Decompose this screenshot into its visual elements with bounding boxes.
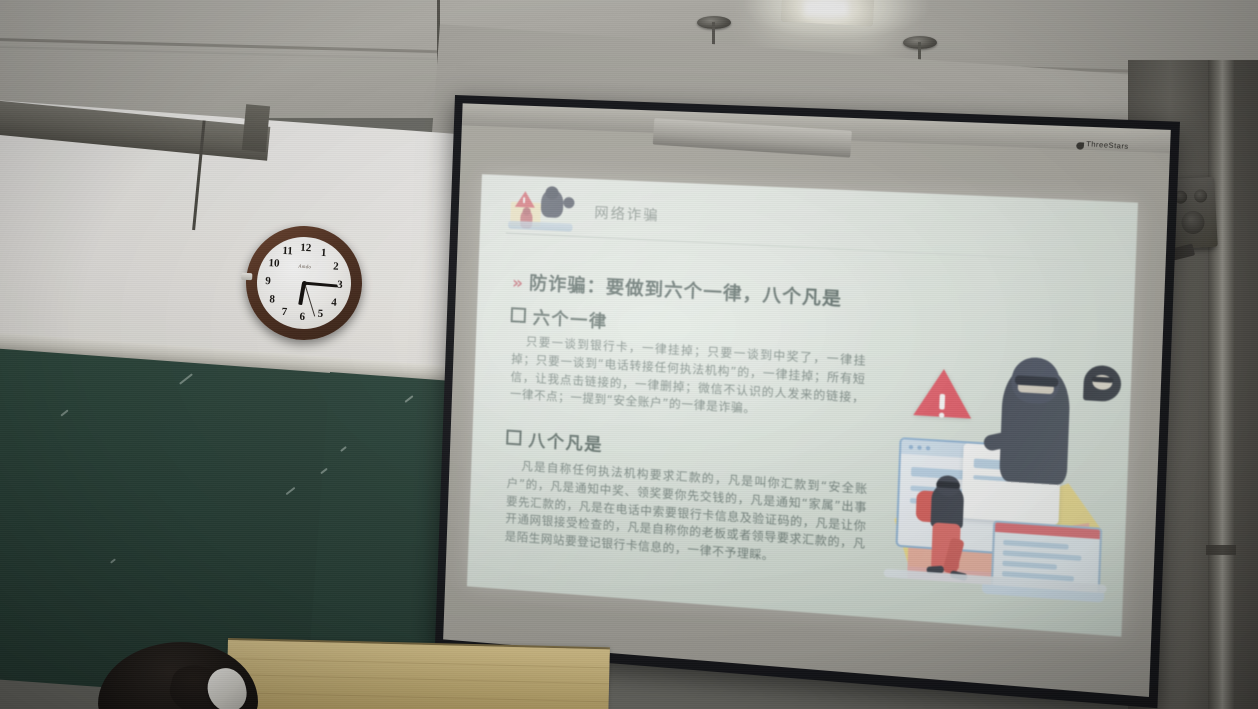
lectern-grain — [228, 658, 610, 668]
hacker-stealing-data-illustration — [883, 350, 1127, 624]
warning-exclamation-icon — [523, 197, 525, 203]
lectern — [226, 640, 610, 709]
clock-numeral-9: 9 — [261, 275, 276, 288]
section-heading-text: 六个一律 — [532, 303, 608, 332]
warning-exclamation-bar — [939, 394, 945, 410]
illu-bubble-icon — [563, 197, 575, 209]
clock-numeral-12: 12 — [299, 242, 314, 255]
square-bullet-icon — [511, 307, 527, 323]
clock-numeral-11: 11 — [280, 245, 295, 258]
phishing-scam-illustration-icon — [506, 187, 584, 233]
clock-brand-label: Amdo — [298, 264, 311, 270]
slide-header: 网络诈骗 — [506, 187, 660, 236]
lectern-grain — [227, 674, 609, 684]
clock-numeral-7: 7 — [277, 306, 292, 319]
wall-clock: Amdo 12 1 2 3 4 5 6 7 8 9 10 11 — [243, 223, 365, 343]
browser-dot — [909, 445, 913, 449]
slide-header-title: 网络诈骗 — [594, 202, 660, 225]
clock-numeral-2: 2 — [329, 260, 344, 273]
slide-header-divider — [506, 233, 1106, 263]
browser-dot — [926, 446, 930, 450]
browser-dot — [917, 445, 921, 449]
clock-numeral-10: 10 — [267, 257, 282, 270]
hanging-light-bar-end — [242, 104, 270, 152]
clock-numeral-5: 5 — [313, 308, 328, 321]
section-body-ba-ge-fan-shi: 凡是自称任何执法机构要求汇款的，凡是叫你汇款到“安全账户”的，凡是通知中奖、领奖… — [504, 457, 868, 573]
section-body-liu-ge-yi-lv: 只要一谈到银行卡，一律挂掉；只要一谈到中奖了，一律挂掉；只要一谈到“电话转接任何… — [510, 332, 867, 425]
wall-pipe — [1208, 60, 1234, 709]
clock-numeral-6: 6 — [295, 311, 310, 324]
section-heading-ba-ge-fan-shi: 八个凡是 — [506, 425, 604, 456]
chevron-double-right-icon: » — [512, 273, 521, 293]
square-bullet-icon — [506, 430, 522, 446]
projection-screen[interactable]: ThreeStars 网络诈骗 — [435, 95, 1180, 708]
projected-slide: 网络诈骗 » 防诈骗：要做到六个一律，八个凡是 六个一律 只要一谈到银行卡，一律… — [467, 174, 1138, 636]
speaker-woofer — [1181, 210, 1205, 234]
clock-numeral-1: 1 — [316, 247, 331, 260]
pipe-band — [1206, 545, 1236, 555]
speaker-cone-right — [1194, 189, 1208, 203]
laptop-content-line — [1003, 550, 1082, 561]
clock-numeral-4: 4 — [327, 296, 342, 309]
classroom-scene: Amdo 12 1 2 3 4 5 6 7 8 9 10 11 ThreeSta… — [0, 0, 1258, 709]
section-heading-text: 八个凡是 — [528, 426, 604, 456]
ceiling-light-core — [804, 0, 848, 16]
laptop-content-line — [1002, 561, 1057, 570]
laptop-content-line — [1003, 540, 1069, 550]
clock-numeral-8: 8 — [265, 293, 280, 306]
clock-peg — [241, 273, 252, 281]
illu-water-band — [508, 221, 573, 232]
lectern-grain — [227, 692, 609, 702]
section-heading-liu-ge-yi-lv: 六个一律 — [510, 302, 608, 332]
warning-exclamation-dot — [939, 412, 945, 418]
clock-center-pin — [301, 280, 306, 285]
